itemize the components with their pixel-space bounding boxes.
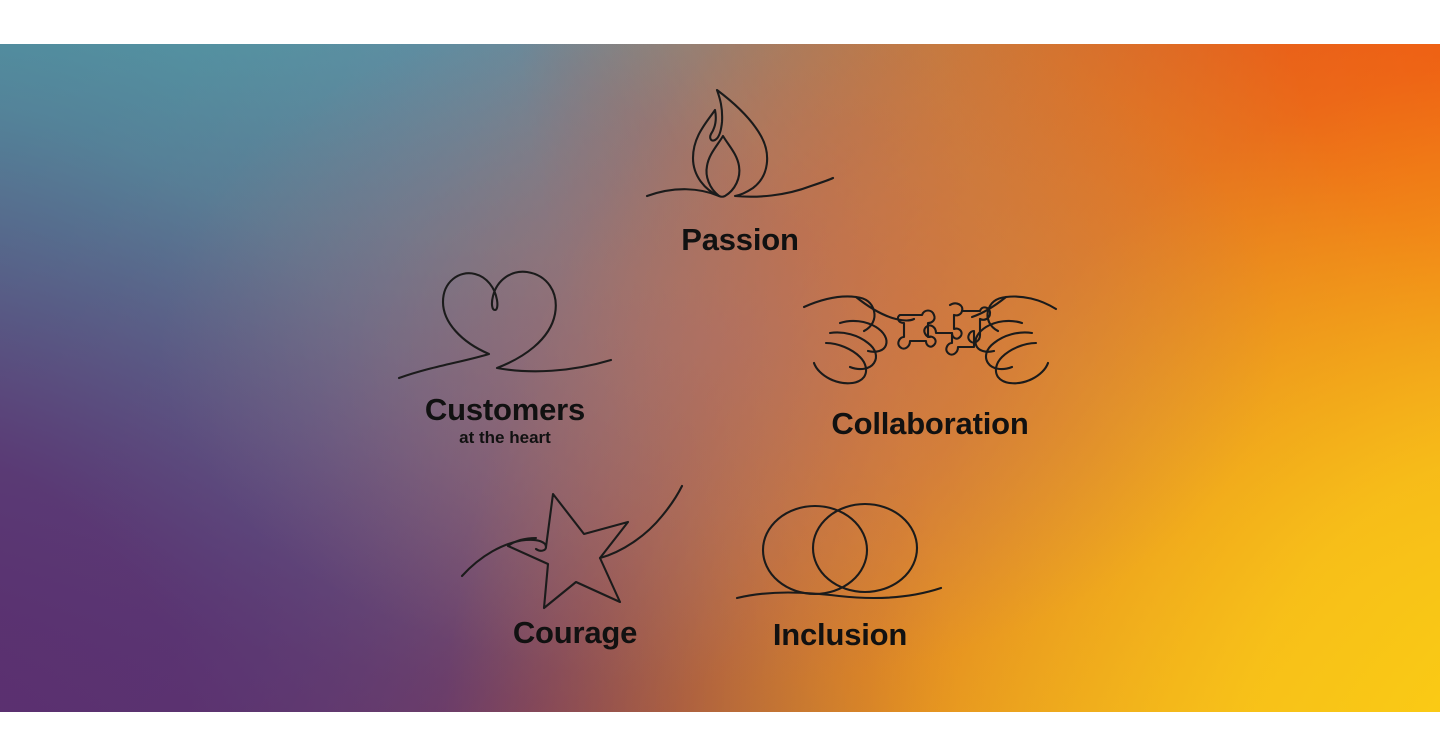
value-item-passion: Passion [645, 88, 835, 257]
heart-icon [385, 260, 625, 390]
values-banner-page: Passion Customers at the heart [0, 0, 1440, 756]
value-sublabel-customers: at the heart [459, 428, 551, 448]
overlapping-circles-icon [735, 498, 945, 613]
value-label-courage: Courage [513, 617, 637, 650]
shooting-star-icon [460, 478, 690, 613]
value-label-collaboration: Collaboration [831, 408, 1028, 441]
value-item-collaboration: Collaboration [800, 285, 1060, 441]
value-item-customers: Customers at the heart [385, 260, 625, 447]
value-label-inclusion: Inclusion [773, 619, 907, 652]
value-item-courage: Courage [460, 478, 690, 650]
value-label-customers: Customers [425, 394, 585, 427]
value-item-inclusion: Inclusion [735, 498, 945, 652]
hands-puzzle-icon [800, 285, 1060, 400]
value-label-passion: Passion [681, 224, 798, 257]
flame-icon [645, 88, 835, 218]
